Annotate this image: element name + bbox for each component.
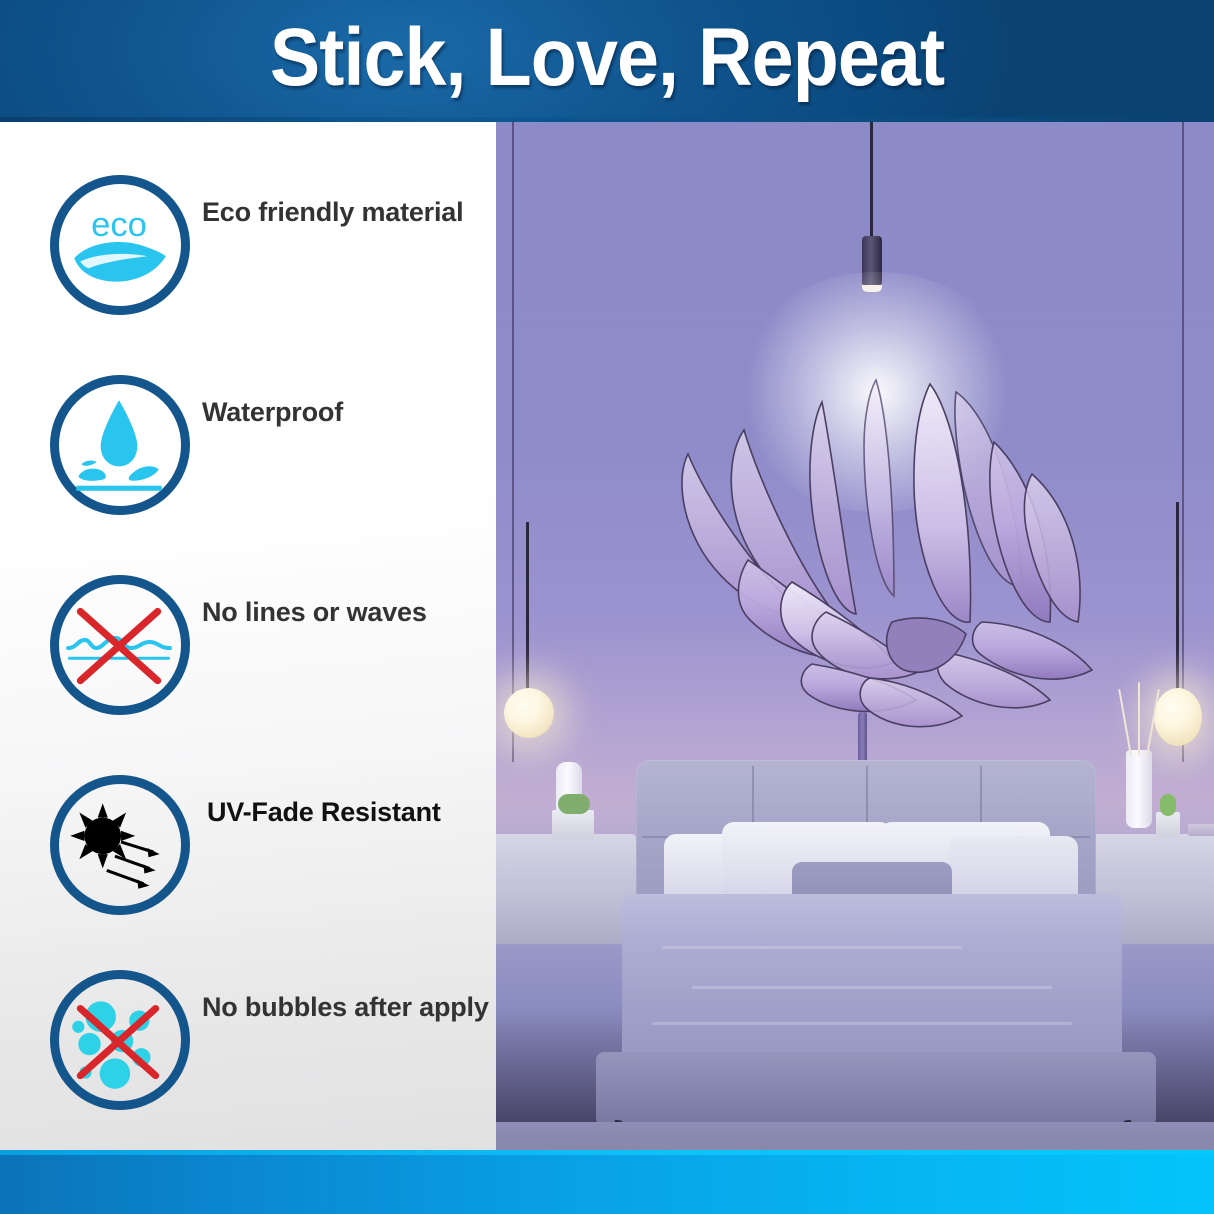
lotus-flower-decal bbox=[626, 322, 1096, 742]
feature-item-no-bubbles: No bubbles after apply bbox=[0, 970, 496, 1120]
left-pendant-globe bbox=[504, 688, 554, 738]
footer-bar bbox=[0, 1150, 1214, 1214]
bed-duvet bbox=[622, 894, 1122, 1074]
header-banner: Stick, Love, Repeat bbox=[0, 0, 1214, 122]
feature-item-eco: eco Eco friendly material bbox=[0, 175, 496, 325]
books-stack bbox=[1188, 824, 1214, 836]
wall-seam-right bbox=[1182, 122, 1184, 762]
right-vase bbox=[1126, 750, 1152, 828]
left-plant-pot bbox=[552, 810, 594, 840]
left-nightstand bbox=[496, 834, 636, 944]
duvet-fold-2 bbox=[692, 986, 1052, 989]
page-title: Stick, Love, Repeat bbox=[49, 0, 1166, 122]
sun-uv-rays-icon bbox=[50, 775, 190, 915]
pendant-cord bbox=[870, 122, 873, 238]
reed-1 bbox=[1118, 689, 1132, 756]
feature-label-waterproof: Waterproof bbox=[202, 397, 343, 428]
feature-item-waterproof: Waterproof bbox=[0, 375, 496, 525]
water-drop-icon bbox=[50, 375, 190, 515]
reed-2 bbox=[1138, 682, 1140, 756]
left-pendant-cord bbox=[526, 522, 529, 702]
feature-label-no-lines: No lines or waves bbox=[202, 597, 427, 628]
feature-label-no-bubbles: No bubbles after apply bbox=[202, 992, 489, 1023]
duvet-fold-1 bbox=[662, 946, 962, 949]
svg-text:eco: eco bbox=[91, 206, 147, 244]
feature-item-uv-fade: UV-Fade Resistant bbox=[0, 775, 496, 925]
duvet-fold-3 bbox=[652, 1022, 1072, 1025]
right-plant bbox=[1160, 794, 1176, 816]
wall-seam-left bbox=[512, 122, 514, 762]
bedroom-scene-photo bbox=[496, 122, 1214, 1150]
feature-item-no-lines: No lines or waves bbox=[0, 575, 496, 725]
feature-list-panel: eco Eco friendly material bbox=[0, 122, 496, 1150]
floor-rug bbox=[496, 1122, 1214, 1150]
eco-leaf-icon: eco bbox=[50, 175, 190, 315]
feature-label-eco: Eco friendly material bbox=[202, 197, 463, 228]
bed-base bbox=[596, 1052, 1156, 1126]
no-waves-icon bbox=[50, 575, 190, 715]
no-bubbles-icon bbox=[50, 970, 190, 1110]
left-plant bbox=[558, 794, 590, 814]
product-infographic: Stick, Love, Repeat eco Eco friendly mat… bbox=[0, 0, 1214, 1214]
right-pendant-globe bbox=[1154, 688, 1202, 746]
right-pendant-cord bbox=[1176, 502, 1179, 702]
feature-label-uv-fade: UV-Fade Resistant bbox=[207, 797, 441, 828]
